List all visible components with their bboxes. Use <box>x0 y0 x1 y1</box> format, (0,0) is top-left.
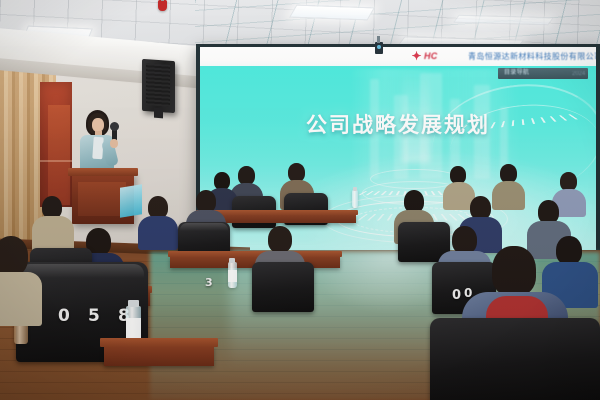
podium-front-panel <box>78 182 126 216</box>
chair-number: 5 <box>88 306 100 326</box>
ceiling-light-panel <box>289 5 375 21</box>
chair <box>252 262 314 312</box>
chair-number: 0 <box>58 306 70 326</box>
desk-top <box>168 251 342 257</box>
fire-sprinkler-icon <box>158 0 167 11</box>
slide-nav-badge-year: 2024 <box>572 70 585 78</box>
chair-highlight <box>180 223 228 231</box>
speaker-grill <box>146 63 170 107</box>
slide-nav-badge-label: 目录导航 <box>504 69 529 78</box>
presenter-hand <box>110 139 118 148</box>
screen-top-camera-icon <box>375 42 383 54</box>
speaker-mount-bracket <box>154 108 163 119</box>
presenter-face <box>92 118 104 132</box>
red-wood-wall-panel-inner <box>48 105 70 205</box>
bottle-label <box>126 318 141 340</box>
podium-monitor <box>120 184 142 217</box>
desk-top <box>100 338 218 347</box>
chair <box>430 318 600 400</box>
desk <box>104 346 214 366</box>
water-bottle <box>352 190 358 208</box>
bottle-cap <box>229 258 235 263</box>
slide-company-name: 青岛恒源达新材料科技股份有限公司 <box>468 51 588 62</box>
slide-title: 公司战略发展规划 <box>200 109 596 139</box>
chair-number: 0 <box>452 288 461 303</box>
microphone-head-icon <box>110 122 119 131</box>
bottle-label <box>228 270 237 282</box>
chair-number: 3 <box>205 276 213 289</box>
company-logo-text: HC <box>424 51 438 62</box>
wall-panel-seam <box>40 160 72 162</box>
bottle-cap <box>128 300 139 307</box>
podium-top-surface <box>68 168 138 176</box>
company-logo-icon: ✦ <box>410 50 423 62</box>
bottle-cap <box>353 187 357 191</box>
conference-room-photo: ✦ HC 青岛恒源达新材料科技股份有限公司 目录导航 2024 公司战略发展规划 <box>0 0 600 400</box>
